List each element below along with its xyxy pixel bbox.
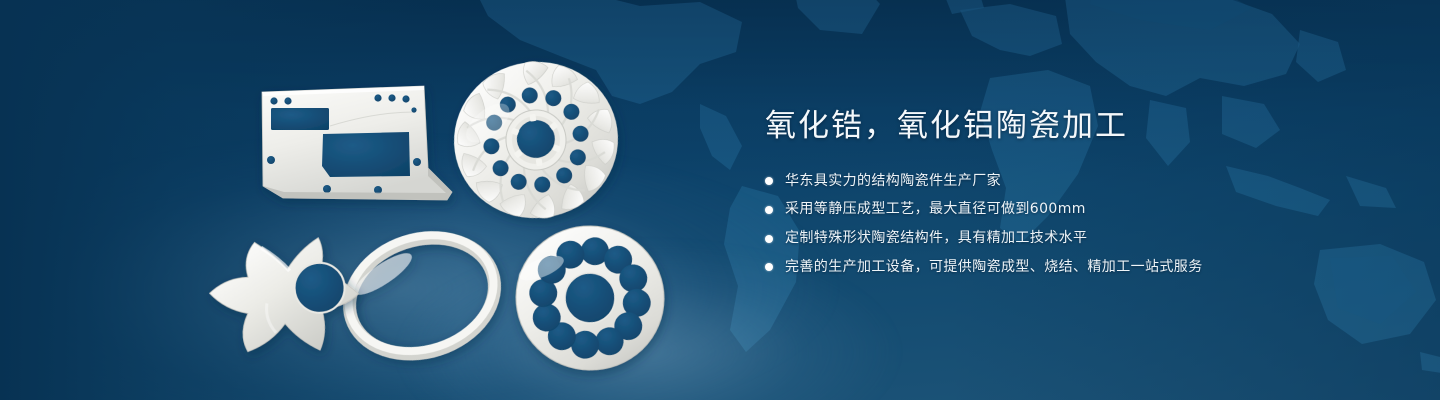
feature-list: 华东具实力的结构陶瓷件生产厂家 采用等静压成型工艺，最大直径可做到600mm 定… <box>765 171 1385 279</box>
list-item: 华东具实力的结构陶瓷件生产厂家 <box>765 171 1385 193</box>
list-item-label: 华东具实力的结构陶瓷件生产厂家 <box>785 171 1001 193</box>
bullet-dot-icon <box>765 235 773 243</box>
page-title: 氧化锆，氧化铝陶瓷加工 <box>765 108 1385 145</box>
list-item-label: 定制特殊形状陶瓷结构件，具有精加工技术水平 <box>785 228 1087 250</box>
ceramic-cross-part <box>205 232 364 361</box>
list-item: 定制特殊形状陶瓷结构件，具有精加工技术水平 <box>765 228 1385 250</box>
banner-copy: 氧化锆，氧化铝陶瓷加工 华东具实力的结构陶瓷件生产厂家 采用等静压成型工艺，最大… <box>765 108 1385 285</box>
list-item: 完善的生产加工设备，可提供陶瓷成型、烧结、精加工一站式服务 <box>765 257 1385 279</box>
ceramic-products-image <box>0 0 760 400</box>
ceramic-ring-part <box>333 217 509 372</box>
ceramic-plate-part <box>262 86 452 200</box>
bullet-dot-icon <box>765 177 773 185</box>
ceramic-perforated-disc-part <box>506 218 671 377</box>
bullet-dot-icon <box>765 206 773 214</box>
list-item-label: 完善的生产加工设备，可提供陶瓷成型、烧结、精加工一站式服务 <box>785 257 1203 279</box>
ceramic-processing-banner: 氧化锆，氧化铝陶瓷加工 华东具实力的结构陶瓷件生产厂家 采用等静压成型工艺，最大… <box>0 0 1440 400</box>
ceramic-impeller-part <box>444 51 628 231</box>
list-item-label: 采用等静压成型工艺，最大直径可做到600mm <box>785 199 1086 221</box>
list-item: 采用等静压成型工艺，最大直径可做到600mm <box>765 199 1385 221</box>
bullet-dot-icon <box>765 263 773 271</box>
